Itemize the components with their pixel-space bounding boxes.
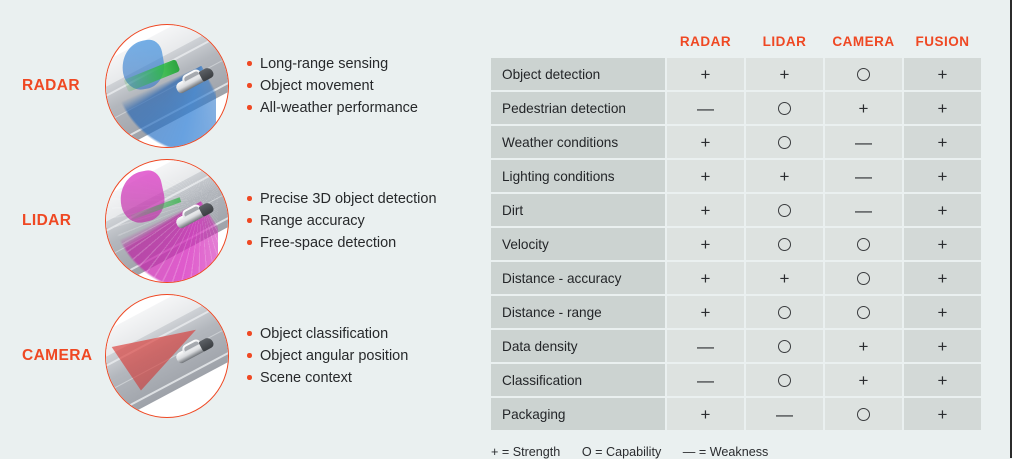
cell-radar: + <box>667 160 744 192</box>
cell-fusion: + <box>904 228 981 260</box>
cell-fusion: + <box>904 398 981 430</box>
strength-plus-icon: + <box>859 338 869 355</box>
strength-plus-icon: + <box>938 168 948 185</box>
cell-radar: + <box>667 58 744 90</box>
column-header-camera: CAMERA <box>825 34 902 56</box>
cell-camera: + <box>825 364 902 396</box>
capability-circle-icon <box>857 408 870 421</box>
weakness-minus-icon: — <box>697 100 714 117</box>
strength-plus-icon: + <box>859 372 869 389</box>
row-label: Distance - range <box>491 296 665 328</box>
cell-lidar <box>746 296 823 328</box>
cell-radar: — <box>667 330 744 362</box>
strength-plus-icon: + <box>938 134 948 151</box>
cell-fusion: + <box>904 58 981 90</box>
table-corner-cell <box>491 34 665 56</box>
lidar-bullet-list: Precise 3D object detection Range accura… <box>247 188 437 254</box>
row-label: Distance - accuracy <box>491 262 665 294</box>
column-header-lidar: LIDAR <box>746 34 823 56</box>
camera-bullet-list: Object classification Object angular pos… <box>247 323 408 389</box>
cell-fusion: + <box>904 262 981 294</box>
cell-radar: — <box>667 92 744 124</box>
capability-circle-icon <box>778 102 791 115</box>
cell-fusion: + <box>904 330 981 362</box>
strength-plus-icon: + <box>780 270 790 287</box>
table-header-row: RADAR LIDAR CAMERA FUSION <box>491 34 981 56</box>
cell-camera: — <box>825 194 902 226</box>
list-item: Range accuracy <box>247 210 437 232</box>
capability-circle-icon <box>778 238 791 251</box>
sensor-row-camera: CAMERA <box>0 288 480 423</box>
capability-circle-icon <box>857 306 870 319</box>
list-item: Scene context <box>247 367 408 389</box>
weakness-minus-icon: — <box>855 168 872 185</box>
strength-plus-icon: + <box>780 168 790 185</box>
strength-plus-icon: + <box>701 406 711 423</box>
row-label: Classification <box>491 364 665 396</box>
cell-radar: + <box>667 194 744 226</box>
cell-radar: + <box>667 228 744 260</box>
column-header-fusion: FUSION <box>904 34 981 56</box>
cell-lidar: + <box>746 58 823 90</box>
capability-circle-icon <box>778 306 791 319</box>
comparison-table-panel: RADAR LIDAR CAMERA FUSION Object detecti… <box>480 0 1000 458</box>
strength-plus-icon: + <box>938 406 948 423</box>
legend-weakness: — = Weakness <box>683 445 769 459</box>
weakness-minus-icon: — <box>776 406 793 423</box>
cell-lidar: — <box>746 398 823 430</box>
strength-plus-icon: + <box>701 236 711 253</box>
lidar-scene <box>106 160 228 282</box>
strength-plus-icon: + <box>938 270 948 287</box>
row-label: Weather conditions <box>491 126 665 158</box>
sensor-list-panel: RADAR <box>0 0 480 458</box>
capability-circle-icon <box>857 68 870 81</box>
row-label: Data density <box>491 330 665 362</box>
capability-circle-icon <box>778 374 791 387</box>
table-row: Object detection+++ <box>491 58 981 90</box>
capability-circle-icon <box>857 238 870 251</box>
list-item: Precise 3D object detection <box>247 188 437 210</box>
strength-plus-icon: + <box>938 236 948 253</box>
table-row: Classification—++ <box>491 364 981 396</box>
sensor-label-radar: RADAR <box>0 77 105 95</box>
sensor-row-radar: RADAR <box>0 18 480 153</box>
strength-plus-icon: + <box>938 304 948 321</box>
cell-lidar: + <box>746 262 823 294</box>
strength-plus-icon: + <box>938 372 948 389</box>
table-row: Data density—++ <box>491 330 981 362</box>
table-row: Lighting conditions++—+ <box>491 160 981 192</box>
row-label: Velocity <box>491 228 665 260</box>
strength-plus-icon: + <box>859 100 869 117</box>
weakness-minus-icon: — <box>697 338 714 355</box>
table-row: Distance - range++ <box>491 296 981 328</box>
cell-camera <box>825 228 902 260</box>
cell-camera: + <box>825 92 902 124</box>
cell-lidar <box>746 330 823 362</box>
table-row: Velocity++ <box>491 228 981 260</box>
sensor-row-lidar: LIDAR <box>0 153 480 288</box>
strength-plus-icon: + <box>938 66 948 83</box>
comparison-table: RADAR LIDAR CAMERA FUSION Object detecti… <box>489 32 983 432</box>
cell-camera <box>825 58 902 90</box>
row-label: Object detection <box>491 58 665 90</box>
legend-strength: + = Strength <box>491 445 560 459</box>
cell-lidar <box>746 126 823 158</box>
table-body: Object detection+++Pedestrian detection—… <box>491 58 981 430</box>
cell-radar: + <box>667 398 744 430</box>
row-label: Lighting conditions <box>491 160 665 192</box>
cell-camera <box>825 398 902 430</box>
sensor-label-lidar: LIDAR <box>0 212 105 230</box>
strength-plus-icon: + <box>701 134 711 151</box>
weakness-minus-icon: — <box>855 134 872 151</box>
row-label: Packaging <box>491 398 665 430</box>
cell-camera: + <box>825 330 902 362</box>
table-legend: + = Strength O = Capability — = Weakness <box>491 445 1000 459</box>
cell-lidar: + <box>746 160 823 192</box>
list-item: Object classification <box>247 323 408 345</box>
table-row: Packaging+—+ <box>491 398 981 430</box>
cell-camera <box>825 296 902 328</box>
table-row: Pedestrian detection—++ <box>491 92 981 124</box>
cell-lidar <box>746 194 823 226</box>
strength-plus-icon: + <box>938 202 948 219</box>
list-item: All-weather performance <box>247 97 418 119</box>
list-item: Free-space detection <box>247 232 437 254</box>
table-header: RADAR LIDAR CAMERA FUSION <box>491 34 981 56</box>
capability-circle-icon <box>857 272 870 285</box>
lidar-scene-illustration <box>105 159 229 283</box>
table-row: Distance - accuracy+++ <box>491 262 981 294</box>
sensor-label-camera: CAMERA <box>0 347 105 365</box>
capability-circle-icon <box>778 204 791 217</box>
row-label: Dirt <box>491 194 665 226</box>
camera-scene <box>106 295 228 417</box>
cell-fusion: + <box>904 364 981 396</box>
cell-fusion: + <box>904 92 981 124</box>
radar-scene <box>106 25 228 147</box>
cell-lidar <box>746 364 823 396</box>
cell-fusion: + <box>904 126 981 158</box>
sensor-comparison-page: RADAR <box>0 0 1012 458</box>
table-row: Weather conditions+—+ <box>491 126 981 158</box>
capability-circle-icon <box>778 340 791 353</box>
cell-camera <box>825 262 902 294</box>
cell-fusion: + <box>904 160 981 192</box>
list-item: Long-range sensing <box>247 53 418 75</box>
strength-plus-icon: + <box>701 270 711 287</box>
weakness-minus-icon: — <box>697 372 714 389</box>
legend-capability: O = Capability <box>582 445 661 459</box>
table-row: Dirt+—+ <box>491 194 981 226</box>
cell-radar: — <box>667 364 744 396</box>
strength-plus-icon: + <box>701 304 711 321</box>
strength-plus-icon: + <box>938 338 948 355</box>
cell-lidar <box>746 228 823 260</box>
cell-camera: — <box>825 126 902 158</box>
cell-radar: + <box>667 296 744 328</box>
cell-radar: + <box>667 262 744 294</box>
strength-plus-icon: + <box>701 168 711 185</box>
list-item: Object angular position <box>247 345 408 367</box>
strength-plus-icon: + <box>938 100 948 117</box>
cell-lidar <box>746 92 823 124</box>
strength-plus-icon: + <box>780 66 790 83</box>
cell-fusion: + <box>904 194 981 226</box>
cell-radar: + <box>667 126 744 158</box>
radar-bullet-list: Long-range sensing Object movement All-w… <box>247 53 418 119</box>
cell-fusion: + <box>904 296 981 328</box>
list-item: Object movement <box>247 75 418 97</box>
camera-scene-illustration <box>105 294 229 418</box>
cell-camera: — <box>825 160 902 192</box>
strength-plus-icon: + <box>701 66 711 83</box>
row-label: Pedestrian detection <box>491 92 665 124</box>
strength-plus-icon: + <box>701 202 711 219</box>
weakness-minus-icon: — <box>855 202 872 219</box>
capability-circle-icon <box>778 136 791 149</box>
radar-scene-illustration <box>105 24 229 148</box>
column-header-radar: RADAR <box>667 34 744 56</box>
